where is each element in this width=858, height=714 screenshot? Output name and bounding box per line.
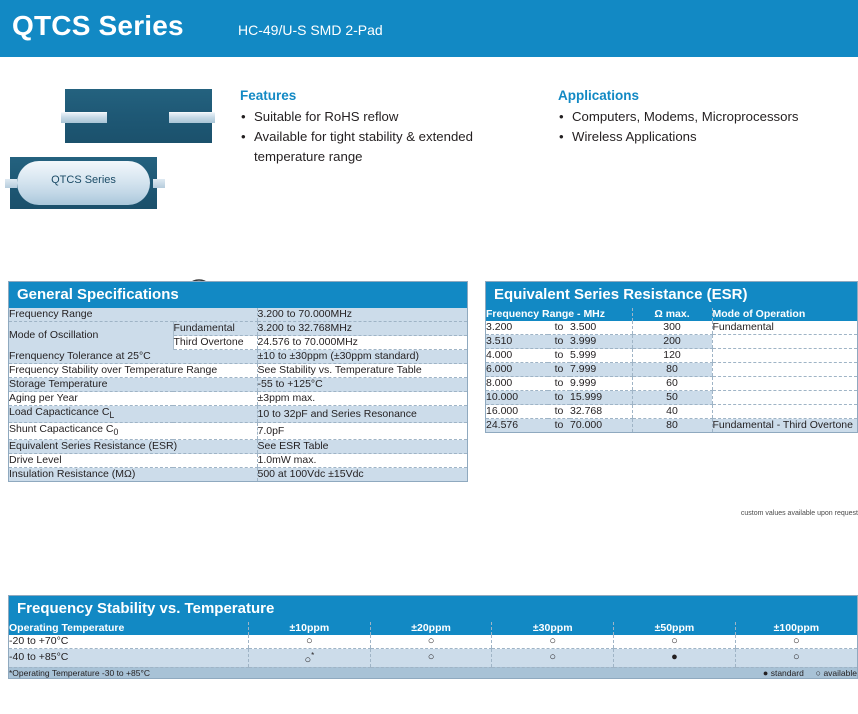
esr-from: 6.000	[486, 363, 548, 377]
esr-mode	[712, 391, 857, 405]
open-circle-icon	[793, 635, 800, 647]
open-circle-icon	[306, 635, 313, 647]
stability-mark-cell	[735, 635, 857, 649]
stability-mark-cell	[614, 649, 736, 668]
esr-panel: Equivalent Series Resistance (ESR) Frequ…	[485, 281, 858, 433]
esr-to: 3.500	[570, 321, 632, 335]
esr-ohm: 300	[632, 321, 712, 335]
table-row: 3.200 to 3.500 300 Fundamental	[486, 321, 857, 335]
spec-param: Drive Level	[9, 454, 257, 468]
esr-to: 3.999	[570, 335, 632, 349]
esr-from: 3.200	[486, 321, 548, 335]
spec-param: Mode of Oscillation	[9, 322, 173, 350]
table-row: Drive Level 1.0mW max.	[9, 454, 467, 468]
table-row: 8.000 to 9.999 60	[486, 377, 857, 391]
filled-circle-icon	[763, 668, 768, 678]
page-title: QTCS Series	[12, 10, 184, 42]
page-header-banner: QTCS Series HC-49/U-S SMD 2-Pad	[0, 0, 858, 57]
spec-param: Equivalent Series Resistance (ESR)	[9, 440, 257, 454]
esr-ohm: 50	[632, 391, 712, 405]
applications-heading: Applications	[558, 88, 858, 103]
spec-param: Shunt Capacticance C0	[9, 423, 257, 440]
stability-col-50ppm: ±50ppm	[614, 622, 736, 635]
list-item: Available for tight stability & extended…	[240, 127, 540, 167]
general-specifications-table: Frequency Range 3.200 to 70.000MHz Mode …	[9, 308, 467, 481]
spec-value: 24.576 to 70.000MHz	[257, 336, 467, 350]
table-row: Frequency Stability over Temperature Ran…	[9, 364, 467, 378]
list-item: Wireless Applications	[558, 127, 858, 147]
esr-from: 8.000	[486, 377, 548, 391]
spec-value: 500 at 100Vdc ±15Vdc	[257, 468, 467, 482]
open-circle-icon	[428, 651, 435, 663]
esr-col-frequency-range: Frequency Range - MHz	[486, 308, 632, 321]
esr-to-word: to	[548, 335, 570, 349]
esr-ohm: 60	[632, 377, 712, 391]
applications-list: Computers, Modems, Microprocessors Wirel…	[558, 107, 858, 147]
spec-param-subscript: L	[109, 410, 114, 420]
package-label: QTCS Series	[17, 174, 150, 186]
spec-param-subscript: 0	[113, 427, 118, 437]
spec-subparam: Third Overtone	[173, 336, 257, 350]
crystal-pad-right	[153, 179, 165, 188]
table-row: Equivalent Series Resistance (ESR) See E…	[9, 440, 467, 454]
esr-col-ohm-max: Ω max.	[632, 308, 712, 321]
features-section: Features Suitable for RoHS reflow Availa…	[240, 88, 540, 167]
esr-to: 15.999	[570, 391, 632, 405]
esr-mode	[712, 405, 857, 419]
stability-mark-cell	[492, 649, 614, 668]
table-row: Frequency Range 3.200 to 70.000MHz	[9, 308, 467, 322]
stability-col-10ppm: ±10ppm	[249, 622, 371, 635]
esr-ohm: 120	[632, 349, 712, 363]
esr-from: 3.510	[486, 335, 548, 349]
table-row: 24.576 to 70.000 80 Fundamental - Third …	[486, 419, 857, 433]
spec-param: Frequency Stability over Temperature Ran…	[9, 364, 257, 378]
table-row: Storage Temperature -55 to +125°C	[9, 378, 467, 392]
esr-to-word: to	[548, 377, 570, 391]
esr-mode	[712, 335, 857, 349]
esr-col-mode-of-operation: Mode of Operation	[712, 308, 857, 321]
crystal-lead-right	[169, 112, 215, 123]
esr-mode: Fundamental - Third Overtone	[712, 419, 857, 433]
esr-to: 7.999	[570, 363, 632, 377]
esr-to-word: to	[548, 349, 570, 363]
stability-mark-cell: *	[249, 649, 371, 668]
esr-ohm: 80	[632, 419, 712, 433]
list-item: Computers, Modems, Microprocessors	[558, 107, 858, 127]
page-subtitle: HC-49/U-S SMD 2-Pad	[238, 22, 383, 38]
general-specifications-title: General Specifications	[9, 282, 467, 308]
table-row: -20 to +70°C	[9, 635, 857, 649]
table-row: 10.000 to 15.999 50	[486, 391, 857, 405]
esr-from: 4.000	[486, 349, 548, 363]
open-circle-icon	[816, 668, 821, 678]
stability-temp-range: -40 to +85°C	[9, 649, 249, 668]
stability-temp-range: -20 to +70°C	[9, 635, 249, 649]
product-image-group: QTCS Series RoHS compliant Pb lead-free	[0, 60, 235, 260]
spec-value: 1.0mW max.	[257, 454, 467, 468]
features-list: Suitable for RoHS reflow Available for t…	[240, 107, 540, 167]
table-row: Aging per Year ±3ppm max.	[9, 392, 467, 406]
esr-from: 10.000	[486, 391, 548, 405]
esr-from: 24.576	[486, 419, 548, 433]
table-row: 3.510 to 3.999 200	[486, 335, 857, 349]
esr-ohm: 40	[632, 405, 712, 419]
table-row: Insulation Resistance (MΩ) 500 at 100Vdc…	[9, 468, 467, 482]
spec-value: ±10 to ±30ppm (±30ppm standard)	[257, 350, 467, 364]
stability-mark-cell	[249, 635, 371, 649]
table-row: Frenquency Tolerance at 25°C ±10 to ±30p…	[9, 350, 467, 364]
spec-value: 3.200 to 70.000MHz	[257, 308, 467, 322]
table-row: 6.000 to 7.999 80	[486, 363, 857, 377]
table-row: 16.000 to 32.768 40	[486, 405, 857, 419]
esr-to-word: to	[548, 391, 570, 405]
open-circle-icon	[428, 635, 435, 647]
spec-value: 7.0pF	[257, 423, 467, 440]
esr-to: 9.999	[570, 377, 632, 391]
spec-param: Storage Temperature	[9, 378, 257, 392]
spec-value: See ESR Table	[257, 440, 467, 454]
table-header-row: Frequency Range - MHz Ω max. Mode of Ope…	[486, 308, 857, 321]
esr-from: 16.000	[486, 405, 548, 419]
stability-col-100ppm: ±100ppm	[735, 622, 857, 635]
spec-subparam: Fundamental	[173, 322, 257, 336]
filled-circle-icon	[671, 651, 678, 663]
esr-title: Equivalent Series Resistance (ESR)	[486, 282, 857, 308]
spec-param: Frenquency Tolerance at 25°C	[9, 350, 257, 364]
esr-custom-values-note: custom values available upon request	[485, 510, 858, 517]
table-row: Load Capacticance CL 10 to 32pF and Seri…	[9, 406, 467, 423]
spec-param-text: Shunt Capacticance C	[9, 423, 113, 435]
esr-mode: Fundamental	[712, 321, 857, 335]
stability-col-20ppm: ±20ppm	[370, 622, 492, 635]
esr-mode	[712, 363, 857, 377]
spec-param: Aging per Year	[9, 392, 257, 406]
list-item: Suitable for RoHS reflow	[240, 107, 540, 127]
esr-to-word: to	[548, 363, 570, 377]
esr-to: 70.000	[570, 419, 632, 433]
spec-param: Load Capacticance CL	[9, 406, 257, 423]
table-header-row: Operating Temperature ±10ppm ±20ppm ±30p…	[9, 622, 857, 635]
spec-value: ±3ppm max.	[257, 392, 467, 406]
spec-value: 10 to 32pF and Series Resonance	[257, 406, 467, 423]
stability-mark-cell	[614, 635, 736, 649]
esr-mode	[712, 349, 857, 363]
spec-param: Insulation Resistance (MΩ)	[9, 468, 257, 482]
table-row: -40 to +85°C *	[9, 649, 857, 668]
stability-mark-cell	[492, 635, 614, 649]
esr-to: 5.999	[570, 349, 632, 363]
legend-label-available: available	[823, 668, 857, 678]
table-row: 4.000 to 5.999 120	[486, 349, 857, 363]
general-specifications-panel: General Specifications Frequency Range 3…	[8, 281, 468, 482]
esr-ohm: 200	[632, 335, 712, 349]
stability-mark-cell	[735, 649, 857, 668]
esr-to-word: to	[548, 405, 570, 419]
spec-param: Frequency Range	[9, 308, 257, 322]
features-heading: Features	[240, 88, 540, 103]
table-row: Shunt Capacticance C0 7.0pF	[9, 423, 467, 440]
stability-col-operating-temperature: Operating Temperature	[9, 622, 249, 635]
esr-to-word: to	[548, 321, 570, 335]
table-row: Mode of Oscillation Fundamental 3.200 to…	[9, 322, 467, 336]
crystal-pad-left	[5, 179, 17, 188]
spec-value: 3.200 to 32.768MHz	[257, 322, 467, 336]
esr-ohm: 80	[632, 363, 712, 377]
stability-col-30ppm: ±30ppm	[492, 622, 614, 635]
spec-value: See Stability vs. Temperature Table	[257, 364, 467, 378]
open-circle-icon	[671, 635, 678, 647]
crystal-lead-left	[61, 112, 107, 123]
legend-label-standard: standard	[771, 668, 804, 678]
footnote-asterisk: *	[311, 651, 314, 660]
open-circle-icon	[549, 651, 556, 663]
esr-to-word: to	[548, 419, 570, 433]
open-circle-icon	[793, 651, 800, 663]
frequency-stability-title: Frequency Stability vs. Temperature	[9, 596, 857, 622]
frequency-stability-table: Operating Temperature ±10ppm ±20ppm ±30p…	[9, 622, 857, 678]
stability-mark-cell	[370, 649, 492, 668]
table-footer-row: *Operating Temperature -30 to +85°C stan…	[9, 667, 857, 678]
stability-mark-cell	[370, 635, 492, 649]
esr-mode	[712, 377, 857, 391]
stability-legend: standard available	[492, 667, 857, 678]
stability-footnote: *Operating Temperature -30 to +85°C	[9, 667, 492, 678]
spec-value: -55 to +125°C	[257, 378, 467, 392]
esr-table: Frequency Range - MHz Ω max. Mode of Ope…	[486, 308, 857, 432]
frequency-stability-panel: Frequency Stability vs. Temperature Oper…	[8, 595, 858, 679]
applications-section: Applications Computers, Modems, Micropro…	[558, 88, 858, 147]
open-circle-icon	[549, 635, 556, 647]
spec-param-text: Load Capacticance C	[9, 406, 109, 418]
esr-to: 32.768	[570, 405, 632, 419]
